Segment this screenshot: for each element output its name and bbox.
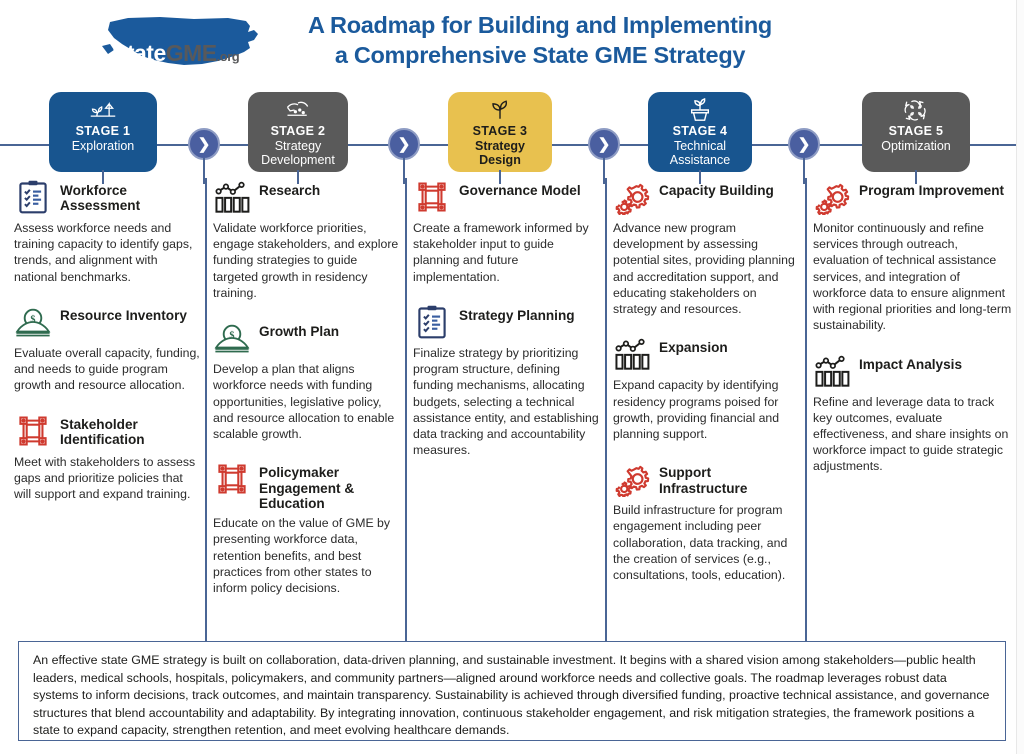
detail-item-title: Research — [259, 178, 320, 198]
detail-item-title: Expansion — [659, 335, 728, 355]
gears-icon — [813, 178, 851, 216]
chevron-right-icon: ❯ — [788, 128, 820, 160]
detail-item-title: Strategy Planning — [459, 303, 575, 323]
bar-chart-trend-icon — [213, 178, 251, 216]
detail-item: $ Resource Inventory Evaluate overall ca… — [14, 303, 200, 394]
stage-label: TechnicalAssistance — [648, 139, 752, 167]
stage-label-line: Optimization — [862, 139, 970, 153]
stage-card-2[interactable]: STAGE 2 StrategyDevelopment — [248, 92, 348, 172]
column-divider — [605, 178, 607, 643]
stage-label-line: Development — [248, 153, 348, 167]
stage-number: STAGE 1 — [49, 124, 157, 138]
stage-card-5[interactable]: STAGE 5 Optimization — [862, 92, 970, 172]
stage-columns: Workforce Assessment Assess workforce ne… — [0, 178, 1024, 638]
stage-timeline: STAGE 1 Exploration STAGE 2 StrategyDeve… — [0, 92, 1024, 172]
gears-icon — [613, 460, 651, 498]
detail-item-head: Support Infrastructure — [613, 460, 799, 498]
logo-org-text: .org — [217, 49, 240, 64]
stage-label-line: Design — [448, 153, 552, 167]
page-title-line2: a Comprehensive State GME Strategy — [270, 40, 810, 70]
detail-item-body: Monitor continuously and refine services… — [813, 220, 1013, 334]
page-edge — [1016, 0, 1024, 754]
stage-label: StrategyDesign — [448, 139, 552, 167]
detail-item-head: Policymaker Engagement & Education — [213, 460, 399, 511]
stakeholder-hands-network-icon — [14, 412, 52, 450]
brand-logo[interactable]: StateGME.org — [98, 12, 268, 72]
stage-column-1: Workforce Assessment Assess workforce ne… — [14, 178, 200, 520]
detail-item-title: Impact Analysis — [859, 352, 962, 372]
detail-item: Capacity Building Advance new program de… — [613, 178, 799, 317]
stage-number: STAGE 3 — [448, 124, 552, 138]
stage-number: STAGE 4 — [648, 124, 752, 138]
money-dollar-icon: $ — [213, 319, 251, 357]
stage-label-line: Strategy — [248, 139, 348, 153]
timeline-arrow-2[interactable]: ❯ — [388, 128, 420, 160]
detail-item-body: Educate on the value of GME by presentin… — [213, 515, 399, 596]
stage-label: Exploration — [49, 139, 157, 153]
detail-item-body: Meet with stakeholders to assess gaps an… — [14, 454, 200, 503]
detail-item: Policymaker Engagement & Education Educa… — [213, 460, 399, 596]
bar-chart-trend-icon — [613, 335, 651, 373]
column-divider — [805, 178, 807, 643]
stage-label-line: Assistance — [648, 153, 752, 167]
timeline-arrow-1[interactable]: ❯ — [188, 128, 220, 160]
detail-item: Support Infrastructure Build infrastruct… — [613, 460, 799, 583]
detail-item-title: Program Improvement — [859, 178, 1004, 198]
leaf-sprout-icon — [448, 97, 552, 123]
detail-item: Governance Model Create a framework info… — [413, 178, 599, 285]
detail-item-head: Capacity Building — [613, 178, 799, 216]
detail-item-title: Policymaker Engagement & Education — [259, 460, 399, 511]
chevron-right-icon: ❯ — [388, 128, 420, 160]
detail-item-head: Expansion — [613, 335, 799, 373]
detail-item: Program Improvement Monitor continuously… — [813, 178, 1013, 334]
detail-item-body: Evaluate overall capacity, funding, and … — [14, 345, 200, 394]
leaf-cycle-icon — [862, 97, 970, 123]
detail-item-head: Governance Model — [413, 178, 599, 216]
detail-item-body: Finalize strategy by prioritizing progra… — [413, 345, 599, 459]
detail-item-head: Impact Analysis — [813, 352, 1013, 390]
summary-text: An effective state GME strategy is built… — [33, 652, 991, 740]
stage-card-4[interactable]: STAGE 4 TechnicalAssistance — [648, 92, 752, 172]
potted-plant-icon — [648, 97, 752, 123]
hand-planting-seeds-icon — [248, 97, 348, 123]
detail-item-title: Governance Model — [459, 178, 581, 198]
detail-item: Stakeholder Identification Meet with sta… — [14, 412, 200, 503]
detail-item-head: Workforce Assessment — [14, 178, 200, 216]
timeline-arrow-3[interactable]: ❯ — [588, 128, 620, 160]
stage-label: StrategyDevelopment — [248, 139, 348, 167]
logo-state-text: State — [112, 40, 166, 66]
detail-item: Expansion Expand capacity by identifying… — [613, 335, 799, 442]
clipboard-checklist-icon — [413, 303, 451, 341]
detail-item: Strategy Planning Finalize strategy by p… — [413, 303, 599, 459]
detail-item-title: Stakeholder Identification — [60, 412, 200, 448]
header: StateGME.org A Roadmap for Building and … — [0, 0, 1024, 88]
detail-item-head: Strategy Planning — [413, 303, 599, 341]
detail-item-body: Refine and leverage data to track key ou… — [813, 394, 1013, 475]
stage-card-3[interactable]: STAGE 3 StrategyDesign — [448, 92, 552, 172]
stage-number: STAGE 2 — [248, 124, 348, 138]
stage-label-line: Strategy — [448, 139, 552, 153]
bar-chart-trend-icon — [813, 352, 851, 390]
column-divider — [205, 178, 207, 643]
stage-card-1[interactable]: STAGE 1 Exploration — [49, 92, 157, 172]
logo-gme-text: GME — [166, 40, 217, 66]
stage-column-5: Program Improvement Monitor continuously… — [813, 178, 1013, 493]
detail-item-body: Advance new program development by asses… — [613, 220, 799, 317]
detail-item: Workforce Assessment Assess workforce ne… — [14, 178, 200, 285]
infographic-page: StateGME.org A Roadmap for Building and … — [0, 0, 1024, 754]
detail-item: Research Validate workforce priorities, … — [213, 178, 399, 301]
stakeholder-hands-network-icon — [413, 178, 451, 216]
gears-icon — [613, 178, 651, 216]
detail-item: $ Growth Plan Develop a plan that aligns… — [213, 319, 399, 442]
stage-label-line: Technical — [648, 139, 752, 153]
stage-label: Optimization — [862, 139, 970, 153]
stage-label-line: Exploration — [49, 139, 157, 153]
detail-item-body: Expand capacity by identifying residency… — [613, 377, 799, 442]
money-dollar-icon: $ — [14, 303, 52, 341]
logo-wordmark: StateGME.org — [112, 40, 239, 67]
column-divider — [405, 178, 407, 643]
detail-item-body: Build infrastructure for program engagem… — [613, 502, 799, 583]
stakeholder-hands-network-icon — [213, 460, 251, 498]
chevron-right-icon: ❯ — [188, 128, 220, 160]
detail-item-head: Program Improvement — [813, 178, 1013, 216]
detail-item-title: Workforce Assessment — [60, 178, 200, 214]
detail-item-title: Capacity Building — [659, 178, 774, 198]
stage-number: STAGE 5 — [862, 124, 970, 138]
detail-item-body: Validate workforce priorities, engage st… — [213, 220, 399, 301]
detail-item-title: Resource Inventory — [60, 303, 187, 323]
detail-item-body: Create a framework informed by stakehold… — [413, 220, 599, 285]
detail-item-title: Growth Plan — [259, 319, 339, 339]
stage-column-4: Capacity Building Advance new program de… — [613, 178, 799, 601]
clipboard-checklist-icon — [14, 178, 52, 216]
detail-item-head: Stakeholder Identification — [14, 412, 200, 450]
detail-item-head: Research — [213, 178, 399, 216]
detail-item-body: Develop a plan that aligns workforce nee… — [213, 361, 399, 442]
detail-item-body: Assess workforce needs and training capa… — [14, 220, 200, 285]
detail-item-title: Support Infrastructure — [659, 460, 799, 496]
stage-column-2: Research Validate workforce priorities, … — [213, 178, 399, 614]
detail-item: Impact Analysis Refine and leverage data… — [813, 352, 1013, 475]
stage-column-3: Governance Model Create a framework info… — [413, 178, 599, 476]
timeline-arrow-4[interactable]: ❯ — [788, 128, 820, 160]
seedling-landscape-icon — [49, 97, 157, 123]
page-title: A Roadmap for Building and Implementing … — [270, 10, 810, 70]
chevron-right-icon: ❯ — [588, 128, 620, 160]
detail-item-head: $ Growth Plan — [213, 319, 399, 357]
detail-item-head: $ Resource Inventory — [14, 303, 200, 341]
summary-box: An effective state GME strategy is built… — [18, 641, 1006, 741]
page-title-line1: A Roadmap for Building and Implementing — [270, 10, 810, 40]
